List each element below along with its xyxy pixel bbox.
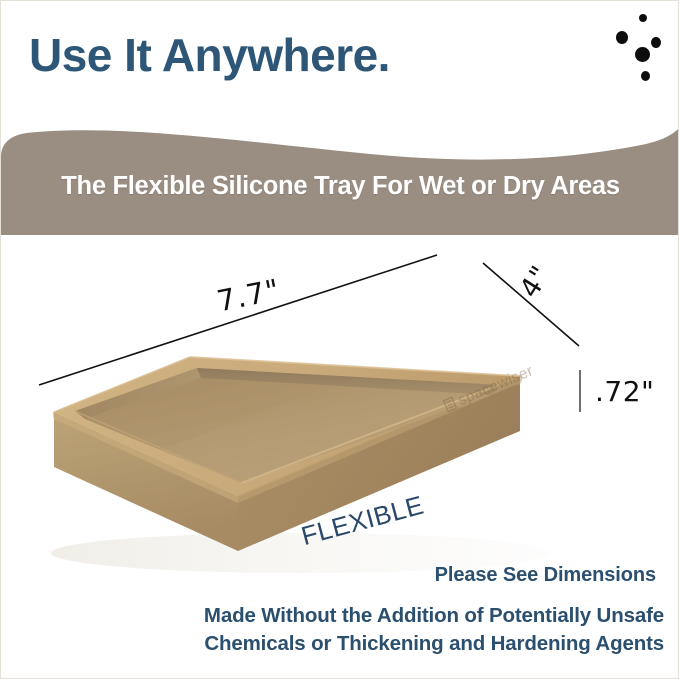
height-tick-bar <box>579 370 581 412</box>
subtitle-banner: The Flexible Silicone Tray For Wet or Dr… <box>1 109 679 235</box>
dot-2 <box>616 31 628 44</box>
dot-5 <box>641 71 650 81</box>
page-headline: Use It Anywhere. <box>29 31 390 79</box>
banner-subtitle-text: The Flexible Silicone Tray For Wet or Dr… <box>1 109 679 235</box>
disclaimer-block: Made Without the Addition of Potentially… <box>1 602 664 657</box>
dot-3 <box>651 37 661 48</box>
please-see-dimensions-text: Please See Dimensions <box>435 564 656 587</box>
dimension-height-label: .72" <box>595 375 654 408</box>
decorative-dots-icon <box>609 9 677 73</box>
disclaimer-line-2: Chemicals or Thickening and Hardening Ag… <box>1 630 664 658</box>
dot-1 <box>639 14 647 22</box>
disclaimer-line-1: Made Without the Addition of Potentially… <box>1 602 664 630</box>
dot-4 <box>635 47 650 62</box>
product-infographic-page: Use It Anywhere. The Flexible Silicone T… <box>0 0 679 679</box>
